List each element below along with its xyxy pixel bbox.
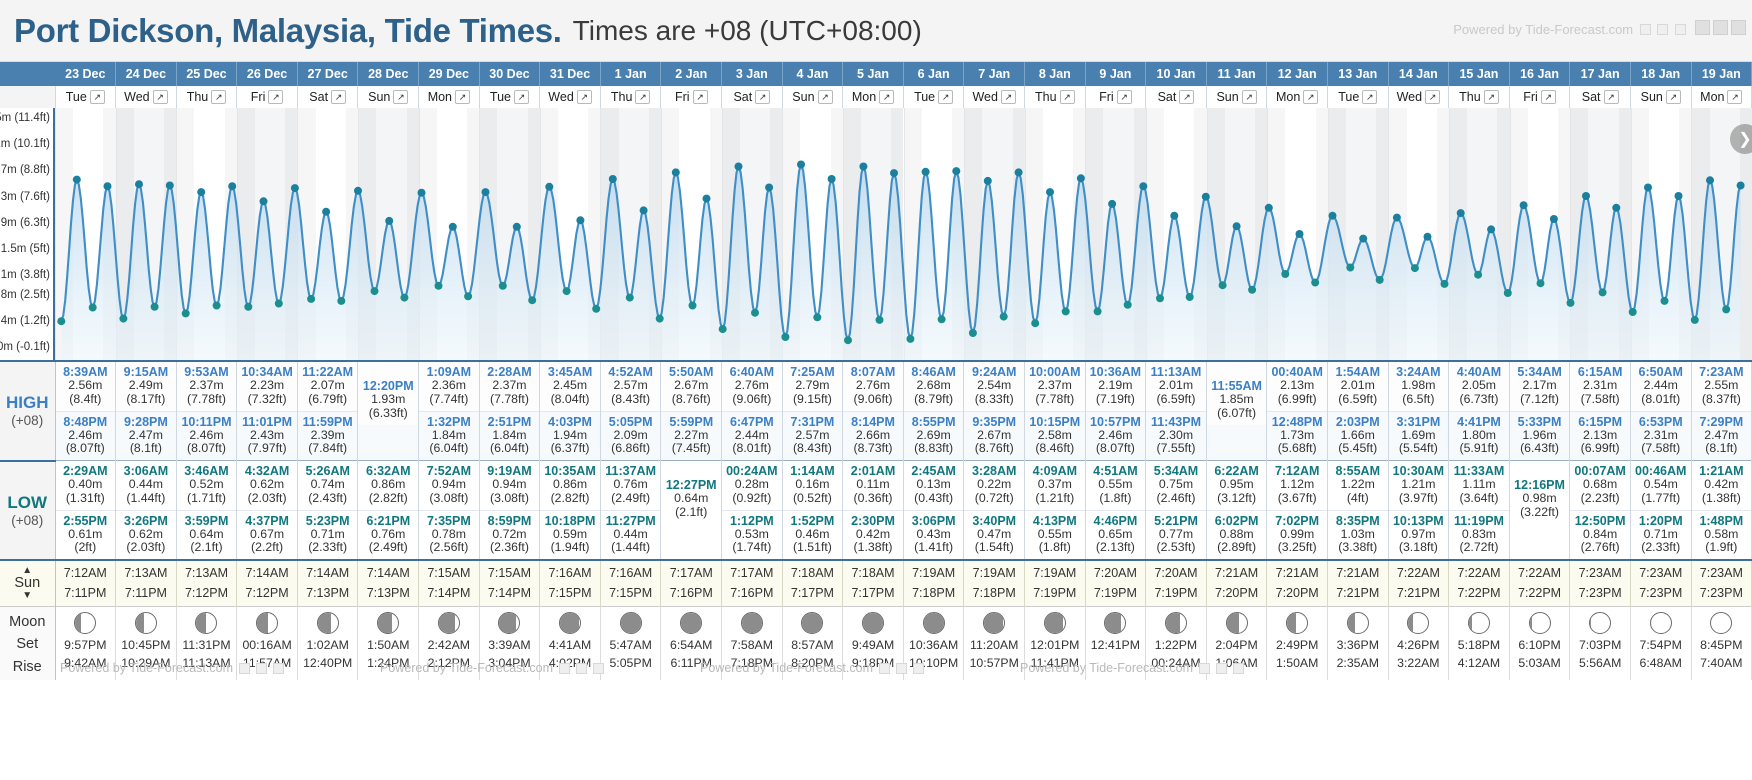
high-tide-point[interactable] — [765, 184, 773, 192]
date-header-22[interactable]: 14 Jan — [1388, 62, 1449, 86]
high-tide-point[interactable] — [1139, 182, 1147, 190]
high-tide-event: 7:31PM2.57m(8.43ft) — [783, 411, 843, 461]
date-header-2[interactable]: 25 Dec — [176, 62, 237, 86]
low-tide-point[interactable] — [1281, 270, 1289, 278]
high-tide-point[interactable] — [1520, 201, 1528, 209]
date-header-3[interactable]: 26 Dec — [237, 62, 298, 86]
sunset-time: 7:21PM — [1389, 584, 1449, 603]
expand-day-icon[interactable]: ↗ — [1541, 90, 1556, 104]
low-tide-point[interactable] — [1411, 264, 1419, 272]
date-header-16[interactable]: 8 Jan — [1025, 62, 1086, 86]
high-time: 5:34AM — [1510, 365, 1570, 379]
low-tide-point[interactable] — [1219, 281, 1227, 289]
high-tide-point[interactable] — [1077, 174, 1085, 182]
high-tide-point[interactable] — [1046, 188, 1054, 196]
high-tide-point[interactable] — [1108, 200, 1116, 208]
weekday-label: Wed — [548, 90, 573, 104]
sun-times-cell: 7:21AM7:20PM — [1267, 560, 1328, 606]
date-header-4[interactable]: 27 Dec — [297, 62, 358, 86]
moon-phase-icon — [256, 612, 278, 634]
date-header-27[interactable]: 19 Jan — [1691, 62, 1752, 86]
sunrise-time: 7:19AM — [904, 564, 964, 583]
low-tide-point[interactable] — [275, 300, 283, 308]
sun-times-cell: 7:23AM7:23PM — [1630, 560, 1691, 606]
high-tide-point[interactable] — [166, 182, 174, 190]
high-feet: (7.97ft) — [237, 442, 297, 456]
high-meters: 2.31m — [1631, 429, 1691, 443]
high-meters: 1.73m — [1267, 429, 1327, 443]
low-meters: 0.65m — [1086, 528, 1146, 542]
high-time: 8:39AM — [56, 365, 116, 379]
low-tide-point[interactable] — [499, 282, 507, 290]
high-tide-event: 4:41PM1.80m(5.91ft) — [1449, 411, 1509, 461]
expand-day-icon[interactable]: ↗ — [635, 90, 650, 104]
low-tide-point[interactable] — [844, 336, 852, 344]
high-time: 10:34AM — [237, 365, 297, 379]
high-meters: 2.30m — [1146, 429, 1206, 443]
moon-set-time: 2:49PM — [1267, 637, 1327, 655]
low-tide-point[interactable] — [1537, 279, 1545, 287]
moon-set-time: 12:41PM — [1086, 637, 1146, 655]
date-header-17[interactable]: 9 Jan — [1085, 62, 1146, 86]
high-tide-point[interactable] — [385, 217, 393, 225]
sunrise-time: 7:23AM — [1692, 564, 1752, 583]
high-meters: 2.19m — [1086, 379, 1146, 393]
low-tide-event: 00:24AM0.28m(0.92ft) — [722, 461, 782, 510]
y-axis-tick: 1.9m (6.3ft) — [0, 217, 50, 229]
high-tide-point[interactable] — [354, 187, 362, 195]
high-tide-point[interactable] — [322, 208, 330, 216]
low-tide-point[interactable] — [182, 309, 190, 317]
low-feet: (0.72ft) — [964, 492, 1024, 506]
low-tide-cell: 00:46AM0.54m(1.77ft)1:20PM0.71m(2.33ft) — [1630, 461, 1691, 561]
expand-day-icon[interactable]: ↗ — [153, 90, 168, 104]
date-header-12[interactable]: 4 Jan — [782, 62, 843, 86]
high-tide-point[interactable] — [1015, 168, 1023, 176]
sunset-time: 7:19PM — [1146, 584, 1206, 603]
expand-day-icon[interactable]: ↗ — [879, 90, 894, 104]
low-tide-event: 2:29AM0.40m(1.31ft) — [56, 461, 116, 510]
date-header-15[interactable]: 7 Jan — [964, 62, 1025, 86]
expand-day-icon[interactable]: ↗ — [755, 90, 770, 104]
low-tide-point[interactable] — [464, 292, 472, 300]
high-tide-point[interactable] — [482, 188, 490, 196]
high-tide-point[interactable] — [576, 216, 584, 224]
expand-day-icon[interactable]: ↗ — [455, 90, 470, 104]
date-header-13[interactable]: 5 Jan — [843, 62, 904, 86]
high-tide-point[interactable] — [1393, 214, 1401, 222]
low-tide-point[interactable] — [244, 303, 252, 311]
low-tide-event: 2:01AM0.11m(0.36ft) — [843, 461, 903, 510]
high-tide-point[interactable] — [1170, 212, 1178, 220]
low-time: 6:02PM — [1207, 514, 1267, 528]
low-tide-cell: 2:29AM0.40m(1.31ft)2:55PM0.61m(2ft) — [55, 461, 116, 561]
high-tide-point[interactable] — [1487, 225, 1495, 233]
low-tide-event: 3:59PM0.64m(2.1ft) — [177, 510, 237, 560]
window-control-icon[interactable] — [1695, 20, 1710, 35]
low-tide-point[interactable] — [719, 325, 727, 333]
high-tide-event: 4:40AM2.05m(6.73ft) — [1449, 362, 1509, 411]
window-control-icon[interactable] — [1731, 20, 1746, 35]
low-tide-point[interactable] — [689, 302, 697, 310]
high-tide-point[interactable] — [513, 223, 521, 231]
high-tide-point[interactable] — [418, 189, 426, 197]
low-tide-point[interactable] — [528, 296, 536, 304]
high-tide-point[interactable] — [609, 175, 617, 183]
moon-set-time: 4:41AM — [540, 637, 600, 655]
high-meters: 2.46m — [177, 429, 237, 443]
high-tide-event: 10:11PM2.46m(8.07ft) — [177, 411, 237, 461]
low-feet: (2.33ft) — [298, 541, 358, 555]
high-time: 1:54AM — [1328, 365, 1388, 379]
high-tide-point[interactable] — [890, 169, 898, 177]
date-header-26[interactable]: 18 Jan — [1630, 62, 1691, 86]
high-tide-point[interactable] — [1612, 204, 1620, 212]
date-header-14[interactable]: 6 Jan — [903, 62, 964, 86]
high-tide-point[interactable] — [1706, 176, 1714, 184]
high-time: 2:51PM — [480, 415, 540, 429]
low-tide-point[interactable] — [1062, 307, 1070, 315]
moon-phase-icon — [1044, 612, 1066, 634]
low-tide-event: 3:28AM0.22m(0.72ft) — [964, 461, 1024, 510]
expand-day-icon[interactable]: ↗ — [1425, 90, 1440, 104]
low-meters: 0.16m — [783, 478, 843, 492]
date-header-24[interactable]: 16 Jan — [1509, 62, 1570, 86]
low-tide-point[interactable] — [1156, 294, 1164, 302]
moon-cell: 9:49AM9:18PM — [843, 606, 904, 680]
date-header-5[interactable]: 28 Dec — [358, 62, 419, 86]
low-tide-point[interactable] — [89, 304, 97, 312]
expand-day-icon[interactable]: ↗ — [938, 90, 953, 104]
low-tide-point[interactable] — [876, 316, 884, 324]
low-time: 4:46PM — [1086, 514, 1146, 528]
high-tide-point[interactable] — [135, 180, 143, 188]
weekday-label: Sun — [1641, 90, 1663, 104]
low-tide-point[interactable] — [1311, 279, 1319, 287]
date-header-25[interactable]: 17 Jan — [1570, 62, 1631, 86]
low-tide-point[interactable] — [151, 303, 159, 311]
low-meters: 0.64m — [661, 492, 721, 506]
expand-day-icon[interactable]: ↗ — [1604, 90, 1619, 104]
low-tide-point[interactable] — [1124, 301, 1132, 309]
moon-phase-icon — [620, 612, 642, 634]
expand-day-icon[interactable]: ↗ — [1362, 90, 1377, 104]
low-tide-cell: 7:12AM1.12m(3.67ft)7:02PM0.99m(3.25ft) — [1267, 461, 1328, 561]
date-header-19[interactable]: 11 Jan — [1206, 62, 1267, 86]
high-meters: 2.01m — [1328, 379, 1388, 393]
weekday-label: Tue — [1338, 90, 1359, 104]
date-header-1[interactable]: 24 Dec — [116, 62, 177, 86]
high-tide-point[interactable] — [1737, 182, 1745, 190]
high-feet: (6.86ft) — [601, 442, 661, 456]
high-feet: (6.79ft) — [298, 393, 358, 407]
high-tide-cell: 6:50AM2.44m(8.01ft)6:53PM2.31m(7.58ft) — [1630, 361, 1691, 461]
low-tide-point[interactable] — [1629, 308, 1637, 316]
expand-day-icon[interactable]: ↗ — [90, 90, 105, 104]
high-tide-event: 8:07AM2.76m(9.06ft) — [843, 362, 903, 411]
high-feet: (8.07ft) — [177, 442, 237, 456]
date-header-6[interactable]: 29 Dec — [419, 62, 480, 86]
moon-label-text: Moon — [0, 611, 55, 633]
low-meters: 0.88m — [1207, 528, 1267, 542]
date-header-row: 23 Dec24 Dec25 Dec26 Dec27 Dec28 Dec29 D… — [0, 62, 1752, 86]
weekday-label: Sun — [792, 90, 814, 104]
low-time: 1:12PM — [722, 514, 782, 528]
moon-phase-icon — [862, 612, 884, 634]
low-time: 3:26PM — [116, 514, 176, 528]
date-header-10[interactable]: 2 Jan — [661, 62, 722, 86]
tide-chart[interactable]: 3.5m (11.4ft)3.1m (10.1ft)2.7m (8.8ft)2.… — [0, 108, 1752, 360]
high-tide-point[interactable] — [672, 168, 680, 176]
expand-day-icon[interactable]: ↗ — [1727, 90, 1742, 104]
low-tide-point[interactable] — [906, 335, 914, 343]
moon-rise-time: 10:57PM — [964, 655, 1024, 673]
low-feet: (1.31ft) — [56, 492, 116, 506]
expand-day-icon[interactable]: ↗ — [1117, 90, 1132, 104]
window-control-icon[interactable] — [1713, 20, 1728, 35]
high-time: 8:14PM — [843, 415, 903, 429]
high-feet: (8.07ft) — [1086, 442, 1146, 456]
high-tide-point[interactable] — [640, 206, 648, 214]
low-meters: 0.46m — [783, 528, 843, 542]
expand-day-icon[interactable]: ↗ — [1242, 90, 1257, 104]
low-tide-point[interactable] — [435, 282, 443, 290]
high-tide-event: 11:59PM2.39m(7.84ft) — [298, 411, 358, 461]
sunrise-time: 7:20AM — [1146, 564, 1206, 583]
low-tide-event: 4:09AM0.37m(1.21ft) — [1025, 461, 1085, 510]
low-tide-point[interactable] — [1441, 280, 1449, 288]
low-tide-point[interactable] — [751, 309, 759, 317]
low-tide-point[interactable] — [813, 313, 821, 321]
low-tide-point[interactable] — [1000, 313, 1008, 321]
low-tide-point[interactable] — [626, 294, 634, 302]
sunrise-time: 7:22AM — [1449, 564, 1509, 583]
low-feet: (1.38ft) — [1692, 492, 1752, 506]
date-header-11[interactable]: 3 Jan — [722, 62, 783, 86]
low-tide-point[interactable] — [781, 333, 789, 341]
chart-scroll-right-button[interactable]: ❯ — [1730, 124, 1752, 154]
low-tide-event: 4:46PM0.65m(2.13ft) — [1086, 510, 1146, 560]
date-header-9[interactable]: 1 Jan — [600, 62, 661, 86]
low-tide-cell: 8:55AM1.22m(4ft)8:35PM1.03m(3.38ft) — [1327, 461, 1388, 561]
expand-day-icon[interactable]: ↗ — [1484, 90, 1499, 104]
high-feet: (6.99ft) — [1267, 393, 1327, 407]
low-tide-point[interactable] — [400, 294, 408, 302]
moon-cell: 2:49PM1:50AM — [1267, 606, 1328, 680]
high-tide-event: 3:45AM2.45m(8.04ft) — [540, 362, 600, 411]
low-tide-point[interactable] — [1186, 293, 1194, 301]
high-feet: (7.58ft) — [1570, 393, 1630, 407]
expand-day-icon[interactable]: ↗ — [577, 90, 592, 104]
high-tide-point[interactable] — [1457, 209, 1465, 217]
y-axis-tick: 3.5m (11.4ft) — [0, 112, 50, 124]
high-tide-point[interactable] — [922, 168, 930, 176]
date-header-8[interactable]: 31 Dec — [540, 62, 601, 86]
low-tide-point[interactable] — [337, 297, 345, 305]
low-tide-point[interactable] — [969, 329, 977, 337]
date-header-18[interactable]: 10 Jan — [1146, 62, 1207, 86]
high-tide-cell: 7:25AM2.79m(9.15ft)7:31PM2.57m(8.43ft) — [782, 361, 843, 461]
low-tide-point[interactable] — [57, 317, 65, 325]
high-tide-point[interactable] — [1329, 212, 1337, 220]
high-feet: (5.45ft) — [1328, 442, 1388, 456]
low-tide-point[interactable] — [1599, 288, 1607, 296]
low-tide-point[interactable] — [1504, 289, 1512, 297]
date-header-23[interactable]: 15 Jan — [1449, 62, 1510, 86]
moon-set-time: 1:22PM — [1146, 637, 1206, 655]
high-tide-point[interactable] — [1582, 192, 1590, 200]
date-header-0[interactable]: 23 Dec — [55, 62, 116, 86]
low-tide-event: 1:21AM0.42m(1.38ft) — [1692, 461, 1752, 510]
high-tide-point[interactable] — [952, 167, 960, 175]
low-tide-point[interactable] — [1346, 264, 1354, 272]
sun-times-cell: 7:18AM7:17PM — [782, 560, 843, 606]
high-tide-point[interactable] — [1644, 184, 1652, 192]
high-tide-point[interactable] — [260, 197, 268, 205]
low-tide-point[interactable] — [1691, 316, 1699, 324]
high-meters: 2.58m — [1025, 429, 1085, 443]
low-tide-point[interactable] — [119, 315, 127, 323]
expand-day-icon[interactable]: ↗ — [331, 90, 346, 104]
expand-day-icon[interactable]: ↗ — [268, 90, 283, 104]
window-controls[interactable] — [1695, 20, 1746, 35]
high-tide-point[interactable] — [228, 182, 236, 190]
high-time: 6:15PM — [1570, 415, 1630, 429]
low-tide-point[interactable] — [1722, 305, 1730, 313]
low-tide-point[interactable] — [1474, 271, 1482, 279]
low-time: 00:46AM — [1631, 464, 1691, 478]
high-time: 4:41PM — [1449, 415, 1509, 429]
high-tide-cell: 4:52AM2.57m(8.43ft)5:05PM2.09m(6.86ft) — [600, 361, 661, 461]
high-feet: (9.15ft) — [783, 393, 843, 407]
low-tide-point[interactable] — [1661, 297, 1669, 305]
moon-cell: 7:58AM7:18PM — [722, 606, 783, 680]
expand-day-icon[interactable]: ↗ — [818, 90, 833, 104]
expand-day-icon[interactable]: ↗ — [514, 90, 529, 104]
high-meters: 2.76m — [722, 379, 782, 393]
low-tide-point[interactable] — [213, 302, 221, 310]
high-tide-point[interactable] — [197, 188, 205, 196]
high-tide-point[interactable] — [1675, 192, 1683, 200]
high-tide-point[interactable] — [1550, 215, 1558, 223]
high-tide-point[interactable] — [73, 176, 81, 184]
chart-plot-area[interactable] — [55, 108, 1752, 360]
high-tide-point[interactable] — [104, 182, 112, 190]
low-meters: 0.54m — [1631, 478, 1691, 492]
sunrise-time: 7:23AM — [1570, 564, 1630, 583]
sunset-time: 7:17PM — [783, 584, 843, 603]
moon-phase-icon — [1347, 612, 1369, 634]
low-tide-point[interactable] — [1376, 276, 1384, 284]
low-tide-event: 3:46AM0.52m(1.71ft) — [177, 461, 237, 510]
date-header-20[interactable]: 12 Jan — [1267, 62, 1328, 86]
low-meters: 0.61m — [56, 528, 116, 542]
high-tide-point[interactable] — [291, 184, 299, 192]
watermark-badge-icon — [1675, 24, 1686, 35]
low-tide-point[interactable] — [1567, 299, 1575, 307]
low-time: 5:23PM — [298, 514, 358, 528]
low-meters: 1.21m — [1389, 478, 1449, 492]
high-tide-point[interactable] — [1265, 204, 1273, 212]
moon-phase-icon — [1529, 612, 1551, 634]
low-tide-point[interactable] — [592, 305, 600, 313]
moon-phase-icon — [1710, 612, 1732, 634]
moon-rise-time: 10:10PM — [904, 655, 964, 673]
date-header-21[interactable]: 13 Jan — [1327, 62, 1388, 86]
low-time: 12:50PM — [1570, 514, 1630, 528]
expand-day-icon[interactable]: ↗ — [1303, 90, 1318, 104]
low-tide-point[interactable] — [1094, 307, 1102, 315]
high-feet: (8.76ft) — [964, 442, 1024, 456]
high-tide-event: 5:05PM2.09m(6.86ft) — [601, 411, 661, 461]
high-meters: 2.05m — [1449, 379, 1509, 393]
date-header-7[interactable]: 30 Dec — [479, 62, 540, 86]
high-tide-event: 11:13AM2.01m(6.59ft) — [1146, 362, 1206, 411]
high-tide-point[interactable] — [1202, 193, 1210, 201]
expand-day-icon[interactable]: ↗ — [393, 90, 408, 104]
low-tide-point[interactable] — [1248, 286, 1256, 294]
high-tide-point[interactable] — [1233, 222, 1241, 230]
low-tide-point[interactable] — [371, 287, 379, 295]
low-meters: 0.83m — [1449, 528, 1509, 542]
high-tide-point[interactable] — [828, 175, 836, 183]
low-tide-point[interactable] — [563, 287, 571, 295]
high-tide-point[interactable] — [449, 223, 457, 231]
expand-day-icon[interactable]: ↗ — [1179, 90, 1194, 104]
high-feet: (8.79ft) — [904, 393, 964, 407]
high-tide-point[interactable] — [984, 177, 992, 185]
low-time: 3:59PM — [177, 514, 237, 528]
expand-day-icon[interactable]: ↗ — [693, 90, 708, 104]
weekday-label: Fri — [1099, 90, 1114, 104]
high-tide-point[interactable] — [1424, 233, 1432, 241]
low-meters: 0.86m — [540, 478, 600, 492]
moon-row: Moon Set Rise 9:57PM9:42AM10:45PM10:29AM… — [0, 606, 1752, 680]
high-time: 3:24AM — [1389, 365, 1449, 379]
high-tide-cell: 11:55AM1.85m(6.07ft) — [1206, 361, 1267, 461]
weekday-cell: Sat↗ — [297, 86, 358, 108]
high-tide-point[interactable] — [1359, 235, 1367, 243]
expand-day-icon[interactable]: ↗ — [1060, 90, 1075, 104]
high-tide-point[interactable] — [1296, 230, 1304, 238]
high-tide-point[interactable] — [703, 195, 711, 203]
high-feet: (6.59ft) — [1146, 393, 1206, 407]
expand-day-icon[interactable]: ↗ — [211, 90, 226, 104]
moon-phase-icon — [317, 612, 339, 634]
low-feet: (3.64ft) — [1449, 492, 1509, 506]
sunrise-time: 7:18AM — [843, 564, 903, 583]
expand-day-icon[interactable]: ↗ — [1666, 90, 1681, 104]
low-tide-cell: 4:09AM0.37m(1.21ft)4:13PM0.55m(1.8ft) — [1025, 461, 1086, 561]
high-tide-event: 10:15PM2.58m(8.46ft) — [1025, 411, 1085, 461]
high-tide-point[interactable] — [797, 161, 805, 169]
high-tide-point[interactable] — [735, 163, 743, 171]
low-tide-event: 1:14AM0.16m(0.52ft) — [783, 461, 843, 510]
low-meters: 0.71m — [1631, 528, 1691, 542]
low-meters: 0.44m — [116, 478, 176, 492]
low-tide-event: 6:02PM0.88m(2.89ft) — [1207, 510, 1267, 560]
sunset-time: 7:19PM — [1025, 584, 1085, 603]
low-tide-point[interactable] — [1031, 319, 1039, 327]
low-tide-point[interactable] — [307, 295, 315, 303]
low-tide-point[interactable] — [656, 315, 664, 323]
low-tide-point[interactable] — [938, 315, 946, 323]
high-tide-point[interactable] — [545, 183, 553, 191]
expand-day-icon[interactable]: ↗ — [1001, 90, 1016, 104]
high-tide-point[interactable] — [859, 163, 867, 171]
watermark-badge-icon — [1640, 24, 1651, 35]
high-tide-event: 9:28PM2.47m(8.1ft) — [116, 411, 176, 461]
